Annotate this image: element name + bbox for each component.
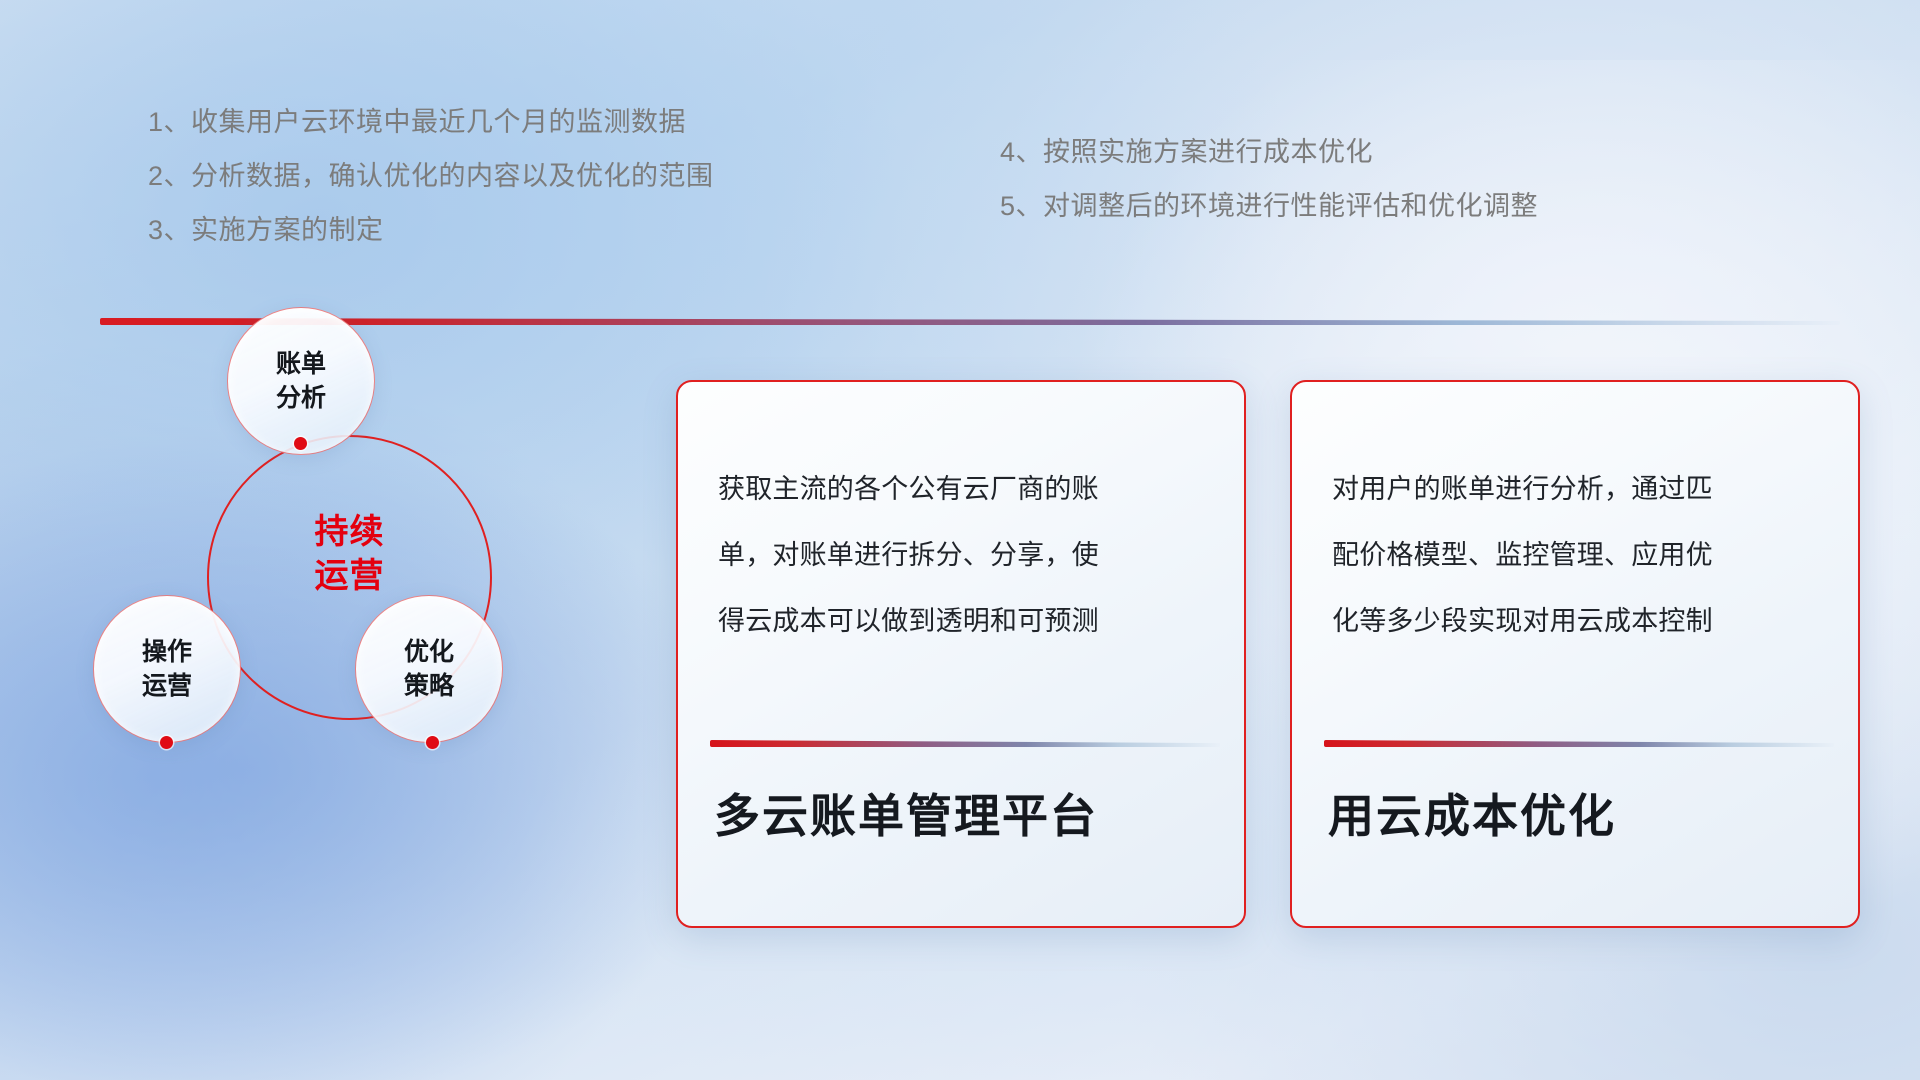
node-label-line-2: 策略 (404, 669, 454, 703)
diagram-node-bill-analysis[interactable]: 账单 分析 (227, 307, 375, 455)
steps-list-right: 4、按照实施方案进行成本优化 5、对调整后的环境进行性能评估和优化调整 (1000, 125, 1538, 233)
step-item-1: 1、收集用户云环境中最近几个月的监测数据 (148, 95, 714, 149)
card-body-line-2: 配价格模型、监控管理、应用优 (1332, 522, 1826, 588)
card-title: 用云成本优化 (1328, 780, 1616, 846)
step-item-4: 4、按照实施方案进行成本优化 (1000, 125, 1538, 179)
diagram-center-label: 持续 运营 (207, 510, 492, 598)
node-label-line-1: 账单 (276, 347, 326, 381)
step-item-5: 5、对调整后的环境进行性能评估和优化调整 (1000, 179, 1538, 233)
card-divider (710, 740, 1220, 747)
steps-list-left: 1、收集用户云环境中最近几个月的监测数据 2、分析数据，确认优化的内容以及优化的… (148, 95, 714, 257)
slide-canvas: 1、收集用户云环境中最近几个月的监测数据 2、分析数据，确认优化的内容以及优化的… (0, 0, 1920, 1080)
card-body-line-1: 对用户的账单进行分析，通过匹 (1332, 456, 1826, 522)
card-divider (1324, 740, 1834, 747)
section-divider (100, 318, 1840, 325)
feature-card-cloud-cost-optimization[interactable]: 对用户的账单进行分析，通过匹 配价格模型、监控管理、应用优 化等多少段实现对用云… (1290, 380, 1860, 928)
card-body-text: 对用户的账单进行分析，通过匹 配价格模型、监控管理、应用优 化等多少段实现对用云… (1332, 456, 1826, 654)
center-label-line-2: 运营 (207, 554, 492, 598)
node-label-line-1: 操作 (142, 635, 192, 669)
feature-card-multicloud-billing[interactable]: 获取主流的各个公有云厂商的账 单，对账单进行拆分、分享，使 得云成本可以做到透明… (676, 380, 1246, 928)
step-item-2: 2、分析数据，确认优化的内容以及优化的范围 (148, 149, 714, 203)
card-body-line-1: 获取主流的各个公有云厂商的账 (718, 456, 1212, 522)
center-label-line-1: 持续 (207, 510, 492, 554)
diagram-node-optimization-strategy[interactable]: 优化 策略 (355, 595, 503, 743)
node-connector-dot-left (160, 736, 173, 749)
node-label-line-2: 分析 (276, 381, 326, 415)
card-body-line-3: 得云成本可以做到透明和可预测 (718, 588, 1212, 654)
continuous-operation-diagram: 持续 运营 账单 分析 操作 运营 优化 策略 (80, 355, 600, 785)
card-title: 多云账单管理平台 (714, 780, 1098, 846)
node-connector-dot-top (294, 437, 307, 450)
card-body-line-2: 单，对账单进行拆分、分享，使 (718, 522, 1212, 588)
card-body-line-3: 化等多少段实现对用云成本控制 (1332, 588, 1826, 654)
node-label-line-2: 运营 (142, 669, 192, 703)
node-connector-dot-right (426, 736, 439, 749)
node-label-line-1: 优化 (404, 635, 454, 669)
step-item-3: 3、实施方案的制定 (148, 203, 714, 257)
diagram-node-operations[interactable]: 操作 运营 (93, 595, 241, 743)
card-body-text: 获取主流的各个公有云厂商的账 单，对账单进行拆分、分享，使 得云成本可以做到透明… (718, 456, 1212, 654)
